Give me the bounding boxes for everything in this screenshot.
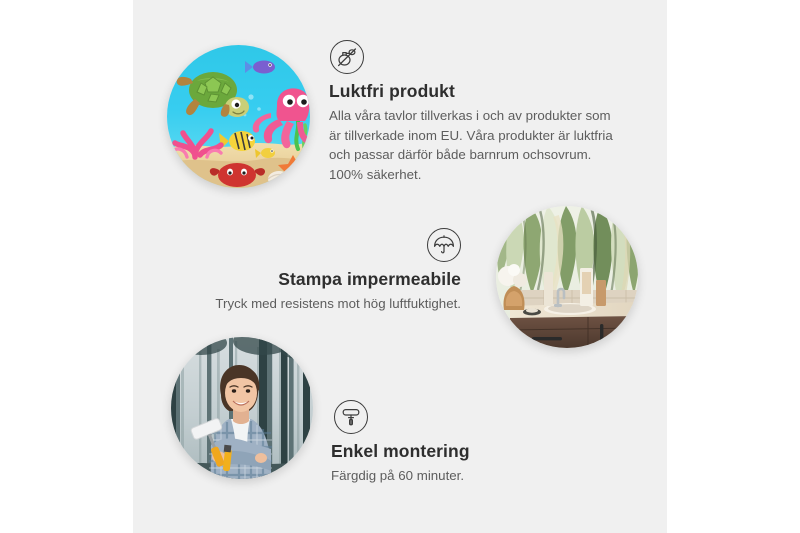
feature-body: Tryck med resistens mot hög luftfuktighe… xyxy=(193,294,461,314)
feature-easy-mounting: Enkel montering Färgdig på 60 minuter. xyxy=(331,400,611,486)
icon-row-waterproof xyxy=(193,228,461,262)
underwater-scene-wall-mural xyxy=(167,45,310,188)
feature-body: Alla våra tavlor tillverkas i och av pro… xyxy=(329,106,625,184)
feature-waterproof: Stampa impermeabile Tryck med resistens … xyxy=(193,228,461,314)
woman-with-paint-roller-forest-mural xyxy=(171,337,313,479)
feature-body: Färgdig på 60 minuter. xyxy=(331,466,611,486)
feature-infographic: Luktfri produkt Alla våra tavlor tillver… xyxy=(0,0,800,533)
icon-row-mounting xyxy=(331,400,611,434)
feature-odourless: Luktfri produkt Alla våra tavlor tillver… xyxy=(329,40,625,184)
paint-roller-icon xyxy=(334,400,368,434)
feature-title: Stampa impermeabile xyxy=(193,269,461,290)
umbrella-icon xyxy=(427,228,461,262)
content-panel: Luktfri produkt Alla våra tavlor tillver… xyxy=(133,0,667,533)
no-odour-spray-bottle-icon xyxy=(330,40,364,74)
bathroom-tropical-leaf-wallpaper xyxy=(496,206,638,348)
icon-row-odourless xyxy=(329,40,625,74)
feature-title: Luktfri produkt xyxy=(329,81,625,102)
feature-title: Enkel montering xyxy=(331,441,611,462)
